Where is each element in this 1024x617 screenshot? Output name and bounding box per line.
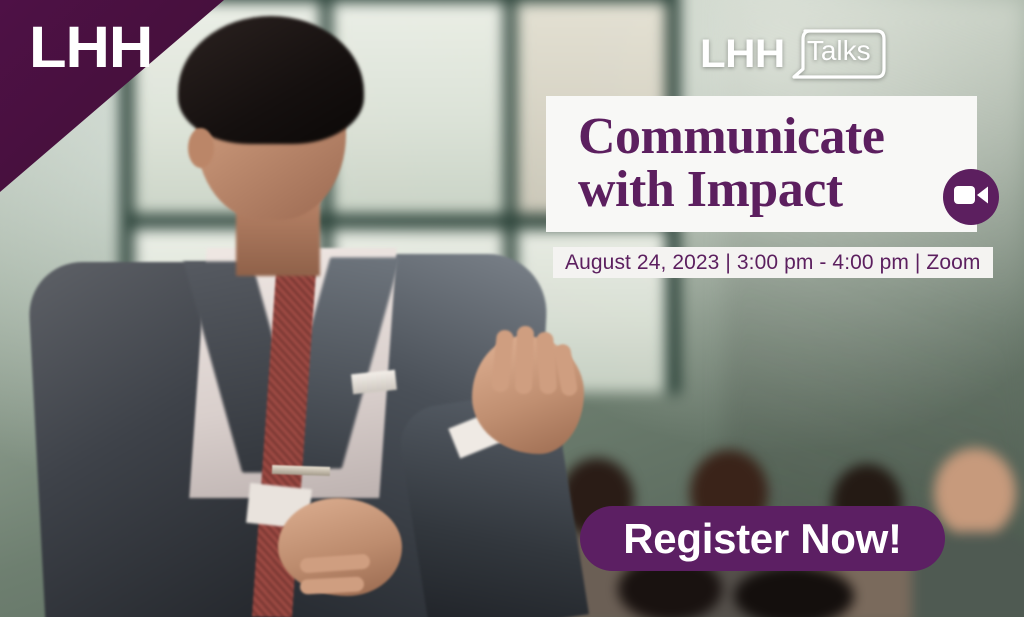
register-now-button[interactable]: Register Now! bbox=[580, 506, 945, 571]
video-camera-badge bbox=[943, 169, 999, 225]
page-title: Communicate with Impact bbox=[546, 110, 977, 216]
speech-bubble-icon: Talks bbox=[791, 28, 887, 80]
video-camera-icon bbox=[954, 184, 988, 211]
title-card: Communicate with Impact bbox=[546, 96, 977, 232]
lhh-talks-logo: LHH Talks bbox=[700, 28, 887, 80]
title-line-1: Communicate bbox=[578, 110, 959, 163]
event-details-band: August 24, 2023 | 3:00 pm - 4:00 pm | Zo… bbox=[553, 247, 993, 278]
lhh-logo: LHH bbox=[29, 19, 152, 77]
promotional-banner: LHH LHH Talks Communicate with Impact Au… bbox=[0, 0, 1024, 617]
event-details-text: August 24, 2023 | 3:00 pm - 4:00 pm | Zo… bbox=[565, 251, 981, 275]
speech-bubble-label: Talks bbox=[791, 37, 887, 65]
title-line-2: with Impact bbox=[578, 163, 959, 216]
lhh-talks-wordmark: LHH bbox=[700, 34, 785, 74]
